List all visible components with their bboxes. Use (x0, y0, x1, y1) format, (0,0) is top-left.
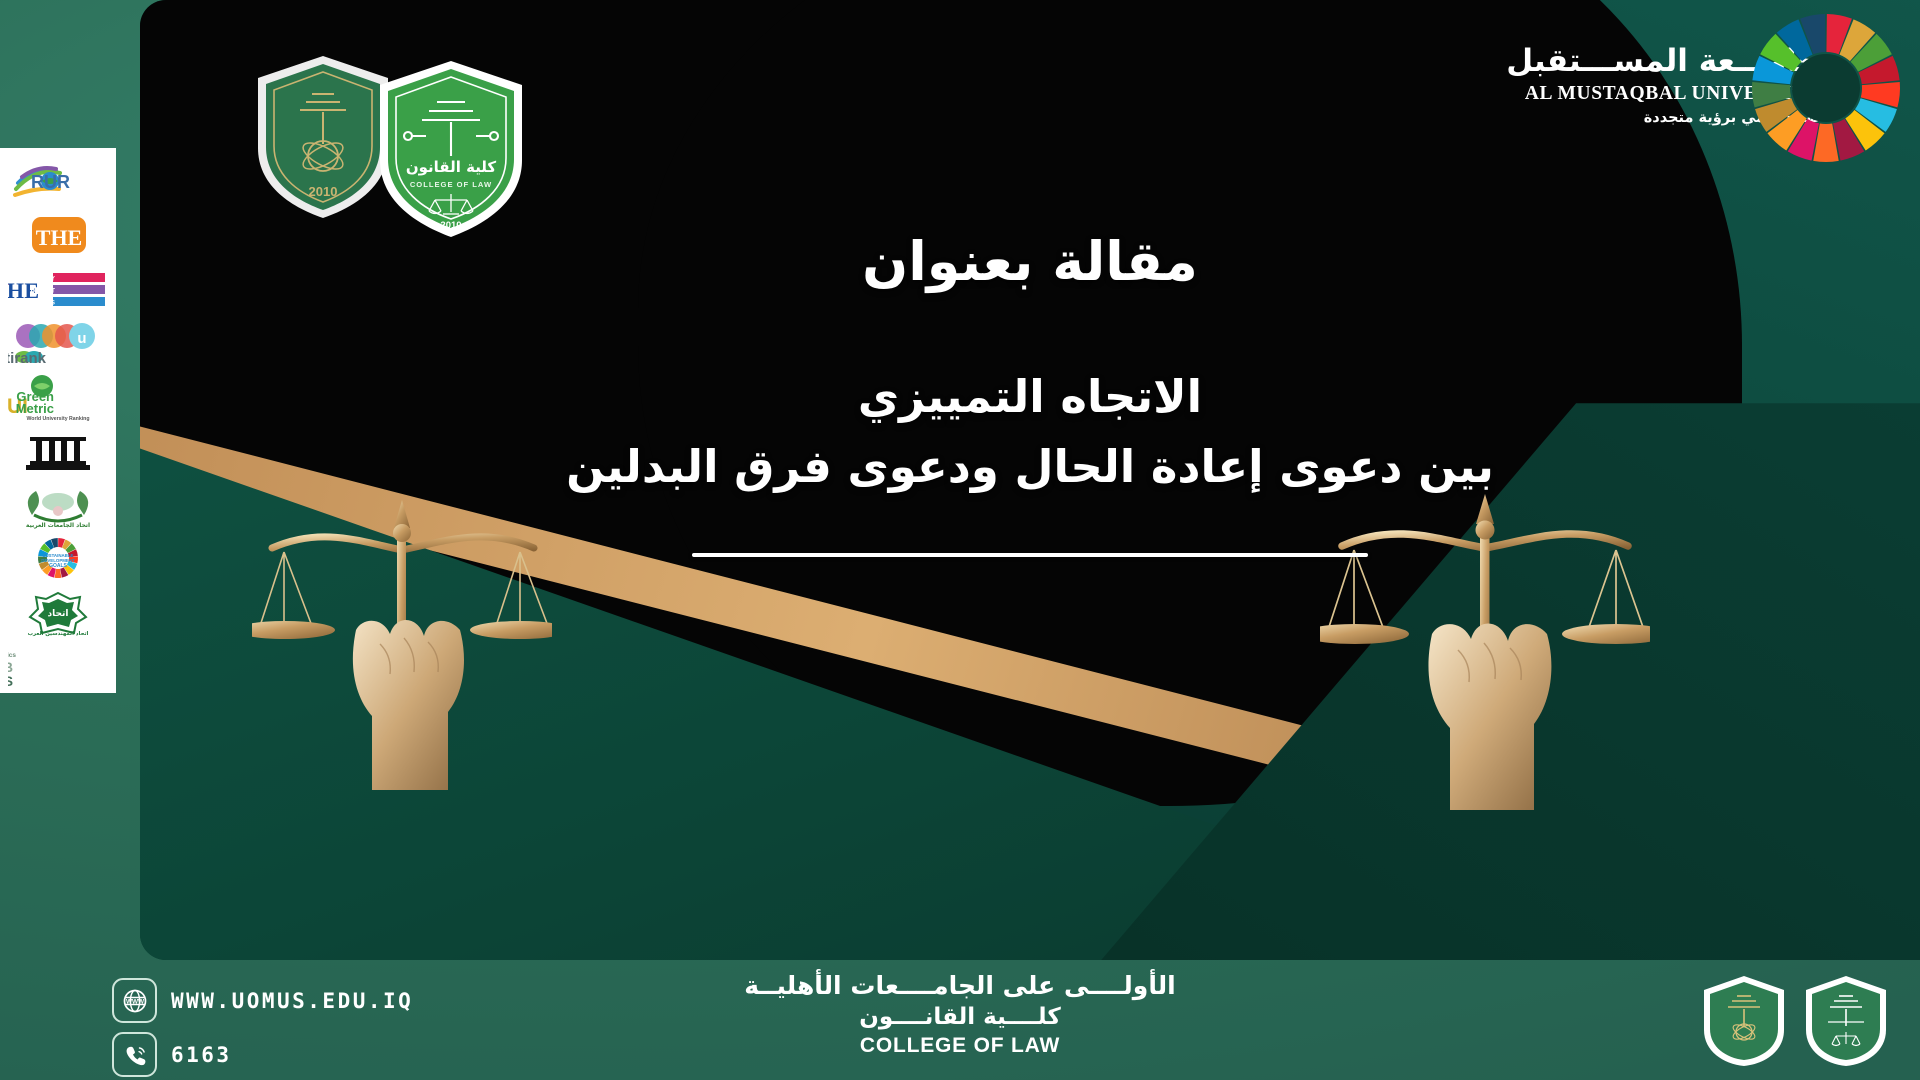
ranking-logo-the[interactable]: THE (8, 208, 108, 262)
footer-college-english: COLLEGE OF LAW (0, 1032, 1920, 1060)
slide-footer: WWW WWW.UOMUS.EDU.IQ 6163 الأولــــى على… (0, 960, 1920, 1080)
ranking-logo-arab-engineers[interactable]: اتحاد اتحاد المهندسين العرب (8, 586, 108, 640)
footer-tagline-arabic: الأولــــى على الجامــــعات الأهليــة (0, 970, 1920, 1003)
slide-page-background: 2010 كلية القانون COLLEGE OF LAW (0, 0, 1920, 1080)
svg-text:RANKING WEB: RANKING WEB (8, 660, 14, 675)
college-of-law-crest: كلية القانون COLLEGE OF LAW 2010 (372, 58, 530, 240)
svg-text:IMPACT: IMPACT (31, 288, 55, 295)
footer-crest-university (1700, 974, 1788, 1068)
ranking-label-the: THE (36, 225, 82, 250)
footer-crest-group (1700, 974, 1890, 1068)
svg-text:Webometrics: Webometrics (8, 652, 16, 659)
svg-text:UNIVERSITY: UNIVERSITY (16, 276, 56, 283)
svg-text:اتحاد: اتحاد (48, 609, 69, 619)
ranking-logo-webometrics[interactable]: Webometrics RANKING WEB OF UNIVERSITIES (8, 640, 108, 694)
rankings-logo-strip: RUR THE T H E UNIVERSITY IMPACT RANKINGS (0, 148, 116, 693)
ranking-label-rur: RUR (31, 172, 70, 192)
ranking-logo-sdg-goals[interactable]: SUSTAINABLE DEVELOPMENT GOALS (8, 532, 108, 586)
svg-text:Metric: Metric (16, 401, 54, 416)
svg-text:RANKINGS: RANKINGS (20, 300, 55, 307)
ranking-logo-ui-greenmetric[interactable]: UI Green Metric World University Ranking (8, 370, 108, 424)
slide-canvas: 2010 كلية القانون COLLEGE OF LAW (140, 0, 1920, 960)
ranking-logo-the-impact[interactable]: T H E UNIVERSITY IMPACT RANKINGS (8, 262, 108, 316)
scales-of-justice-right-image (1320, 420, 1650, 810)
crest-secondary-year: 2010 (309, 184, 338, 199)
crest-year: 2010 (440, 220, 461, 231)
ranking-label-multirank: multirank (8, 350, 47, 367)
scales-of-justice-left-image (252, 430, 552, 790)
footer-crest-law (1802, 974, 1890, 1068)
svg-text:GOALS: GOALS (49, 563, 67, 569)
crest-label-ar: كلية القانون (406, 158, 497, 176)
ranking-logo-multirank[interactable]: u multirank (8, 316, 108, 370)
svg-text:u: u (77, 330, 86, 347)
ranking-label-arab-engineers: اتحاد المهندسين العرب (28, 631, 89, 637)
svg-text:OF UNIVERSITIES: OF UNIVERSITIES (8, 674, 14, 689)
footer-college-arabic: كلــــية القانــــون (0, 1003, 1920, 1033)
crest-label-en: COLLEGE OF LAW (410, 180, 492, 189)
sdg-wheel-icon (1750, 12, 1902, 164)
ranking-label-arab-universities: اتحاد الجامعات العربية (26, 522, 90, 529)
ranking-logo-arab-universities[interactable]: اتحاد الجامعات العربية (8, 478, 108, 532)
footer-college-block: الأولــــى على الجامــــعات الأهليــة كل… (0, 970, 1920, 1061)
ranking-logo-ministry-pillars[interactable] (8, 424, 108, 478)
ranking-logo-rur[interactable]: RUR (8, 154, 108, 208)
svg-text:World University Ranking: World University Ranking (26, 416, 89, 421)
